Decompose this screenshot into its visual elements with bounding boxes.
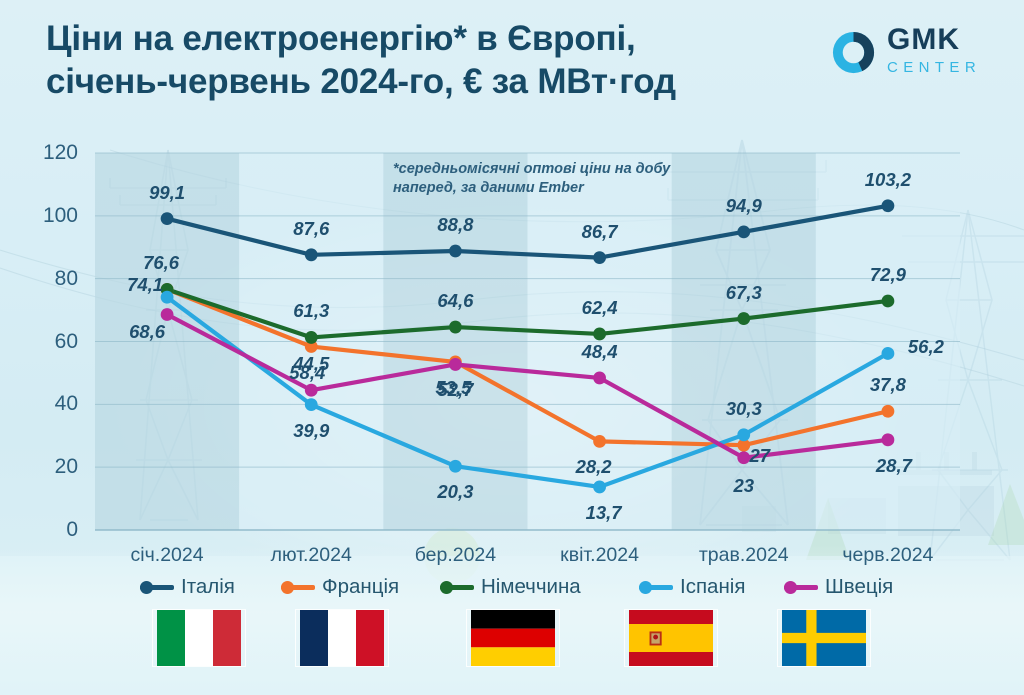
data-point xyxy=(449,358,462,371)
data-label: 48,4 xyxy=(582,341,618,363)
line-chart: 020406080100120 січ.2024лют.2024бер.2024… xyxy=(0,128,1024,568)
data-point xyxy=(882,433,895,446)
data-label: 39,9 xyxy=(293,420,329,442)
y-axis-tick: 20 xyxy=(18,455,78,479)
y-axis-tick: 0 xyxy=(18,518,78,542)
logo-wordmark: GMK CENTER xyxy=(887,25,981,75)
data-label: 87,6 xyxy=(293,218,329,240)
data-label: 56,2 xyxy=(908,336,944,358)
data-label: 20,3 xyxy=(437,481,473,503)
y-axis-tick: 40 xyxy=(18,392,78,416)
data-label: 13,7 xyxy=(586,502,622,524)
data-label: 86,7 xyxy=(582,221,618,243)
data-point xyxy=(449,245,462,258)
legend-marker-icon xyxy=(784,579,818,595)
y-axis-tick: 100 xyxy=(18,204,78,228)
legend-marker-icon xyxy=(281,579,315,595)
data-label: 28,7 xyxy=(876,455,912,477)
legend-marker-icon xyxy=(440,579,474,595)
data-point xyxy=(593,435,606,448)
data-point xyxy=(305,248,318,261)
country-flags xyxy=(0,610,1024,672)
data-label: 28,2 xyxy=(576,456,612,478)
flag-france xyxy=(296,610,388,666)
data-point xyxy=(305,398,318,411)
x-axis-tick: бер.2024 xyxy=(375,544,535,567)
data-label: 94,9 xyxy=(726,195,762,217)
data-point xyxy=(737,428,750,441)
data-point xyxy=(882,405,895,418)
chart-legend: ІталіяФранціяНімеччинаІспаніяШвеція xyxy=(0,572,1024,612)
legend-item-germany[interactable]: Німеччина xyxy=(440,572,581,602)
data-label: 64,6 xyxy=(437,290,473,312)
data-label: 72,9 xyxy=(870,264,906,286)
flag-italy xyxy=(153,610,245,666)
data-point xyxy=(593,372,606,385)
flag-spain xyxy=(625,610,717,666)
logo-gmk-text: GMK xyxy=(887,25,981,55)
legend-label: Іспанія xyxy=(680,575,745,599)
data-label: 62,4 xyxy=(582,297,618,319)
data-label: 44,5 xyxy=(293,353,329,375)
legend-item-spain[interactable]: Іспанія xyxy=(639,572,745,602)
legend-marker-icon xyxy=(639,579,673,595)
y-axis-tick: 120 xyxy=(18,141,78,165)
legend-item-sweden[interactable]: Швеція xyxy=(784,572,893,602)
data-point xyxy=(737,312,750,325)
data-label: 74,1 xyxy=(127,274,163,296)
page-title: Ціни на електроенергію* в Європі, січень… xyxy=(46,18,846,103)
legend-label: Італія xyxy=(181,575,235,599)
legend-item-italy[interactable]: Італія xyxy=(140,572,235,602)
data-point xyxy=(449,321,462,334)
legend-marker-icon xyxy=(140,579,174,595)
flag-italy-icon xyxy=(153,610,245,666)
gmk-center-logo: GMK CENTER xyxy=(830,27,1002,85)
x-axis-tick: лют.2024 xyxy=(231,544,391,567)
x-axis-tick: квіт.2024 xyxy=(520,544,680,567)
legend-label: Німеччина xyxy=(481,575,581,599)
x-axis-tick: трав.2024 xyxy=(664,544,824,567)
data-label: 99,1 xyxy=(149,182,185,204)
data-label: 37,8 xyxy=(870,374,906,396)
data-point xyxy=(593,251,606,264)
gmk-ring-icon xyxy=(830,29,877,76)
data-label: 52,7 xyxy=(437,379,473,401)
logo-center-text: CENTER xyxy=(887,60,981,75)
data-point xyxy=(161,308,174,321)
header: Ціни на електроенергію* в Європі, січень… xyxy=(0,0,1024,128)
data-point xyxy=(161,212,174,225)
data-label: 23 xyxy=(733,475,754,497)
legend-label: Франція xyxy=(322,575,399,599)
data-label: 61,3 xyxy=(293,300,329,322)
flag-france-icon xyxy=(296,610,388,666)
data-point xyxy=(593,328,606,341)
data-point xyxy=(882,347,895,360)
flag-sweden-icon xyxy=(778,610,870,666)
data-point xyxy=(305,384,318,397)
data-point xyxy=(882,295,895,308)
y-axis-tick: 80 xyxy=(18,267,78,291)
data-point xyxy=(737,225,750,238)
flag-spain-icon xyxy=(625,610,717,666)
y-axis-tick: 60 xyxy=(18,330,78,354)
x-axis-tick: січ.2024 xyxy=(87,544,247,567)
data-point xyxy=(593,481,606,494)
legend-label: Швеція xyxy=(825,575,893,599)
flag-germany-icon xyxy=(467,610,559,666)
data-label: 103,2 xyxy=(865,169,911,191)
chart-footnote: *середньомісячні оптові ціни на добу нап… xyxy=(393,160,693,199)
data-label: 68,6 xyxy=(129,321,165,343)
data-point xyxy=(737,451,750,464)
data-label: 30,3 xyxy=(726,398,762,420)
data-label: 88,8 xyxy=(437,214,473,236)
flag-germany xyxy=(467,610,559,666)
data-label: 76,6 xyxy=(143,252,179,274)
legend-item-france[interactable]: Франція xyxy=(281,572,399,602)
data-label: 67,3 xyxy=(726,282,762,304)
data-label: 27 xyxy=(749,445,770,467)
data-point xyxy=(305,331,318,344)
data-point xyxy=(449,460,462,473)
x-axis-tick: черв.2024 xyxy=(808,544,968,567)
data-point xyxy=(882,199,895,212)
flag-sweden xyxy=(778,610,870,666)
